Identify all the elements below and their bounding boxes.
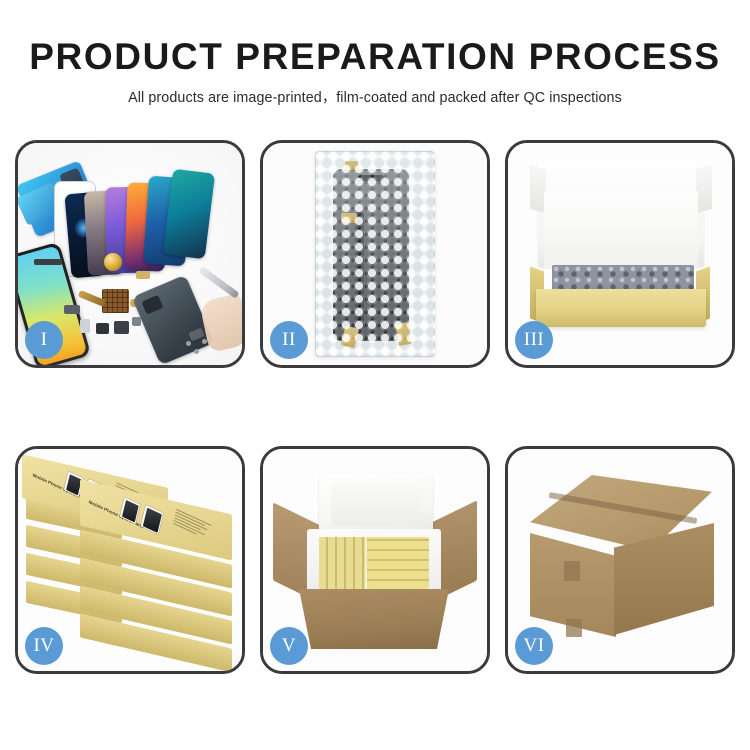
step-panel-4: Mobile Phone Spare Parts Mobile Phone Sp… [15,446,245,674]
step-panel-6: VI [505,446,735,674]
screw-icon [202,339,207,344]
flex-cable-icon [355,211,364,331]
step-panel-2: II [260,140,490,368]
tape-icon [341,213,357,223]
packed-screen-icon [333,169,409,341]
box-label-lines [172,509,211,542]
tape-icon [395,322,412,346]
packed-yellow-boxes [319,537,429,589]
step-number-badge: III [515,321,553,359]
page-subtitle: All products are image-printed，film-coat… [0,86,750,107]
step-panel-5: V [260,446,490,674]
step-number-badge: VI [515,627,553,665]
process-steps-grid: I II [15,140,735,674]
component-bar-icon [34,259,62,265]
screw-icon [194,349,199,354]
speaker-module-icon [104,253,122,271]
small-component-icon [114,321,129,334]
yellow-box-stack [319,537,365,589]
header: PRODUCT PREPARATION PROCESS All products… [0,38,750,107]
screwdriver-icon [198,266,239,299]
step-number-badge: I [25,321,63,359]
tape-icon [345,161,358,170]
phone-display-icon [163,169,215,259]
bubble-wrap-bag-icon [315,151,435,357]
carton-tape-icon [564,561,580,581]
step-panel-3: III [505,140,735,368]
screw-icon [186,341,191,346]
yellow-box-stack [367,537,429,589]
yellow-box-front-icon [536,289,706,327]
small-component-icon [96,323,109,334]
step-number-badge: V [270,627,308,665]
small-component-icon [136,271,150,279]
carton-body [299,589,449,649]
phone-back-housing-icon [132,275,214,365]
page-title: PRODUCT PREPARATION PROCESS [0,38,750,77]
small-component-icon [80,319,90,333]
white-foam-sheet-icon [544,191,698,269]
tape-icon [341,326,359,349]
step-number-badge: IV [25,627,63,665]
step-panel-1: I [15,140,245,368]
product-preparation-infographic: PRODUCT PREPARATION PROCESS All products… [0,0,750,750]
styrofoam-lid-icon [319,473,433,535]
small-component-icon [132,317,141,326]
box-label-phone-image [141,505,164,534]
carton-tape-icon [566,619,582,637]
small-component-icon [64,305,80,314]
logic-board-icon [102,289,129,313]
step-number-badge: II [270,321,308,359]
